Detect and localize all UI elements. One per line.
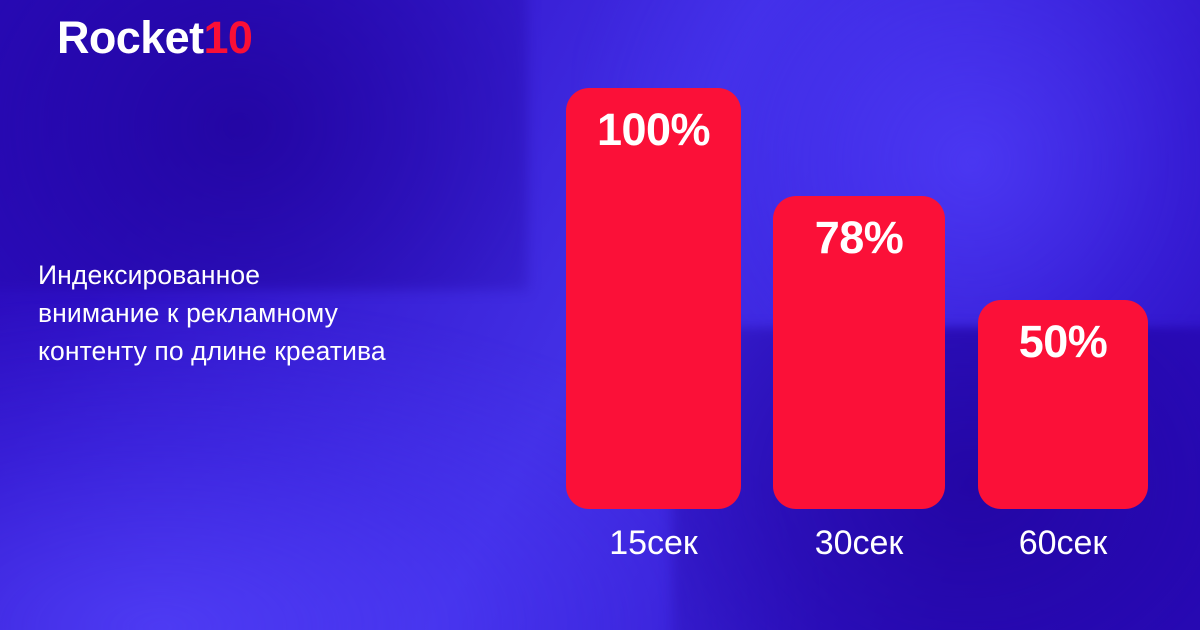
- bar-rect: 78%: [773, 196, 945, 509]
- bar-category-label: 15сек: [552, 525, 755, 562]
- bar-value-label: 100%: [566, 106, 741, 153]
- chart-caption-line-2: внимание к рекламному: [38, 294, 543, 332]
- bar-column: 50% 60сек: [978, 60, 1148, 570]
- bar-chart: 100% 15сек 78% 30сек 50% 60сек: [560, 60, 1160, 570]
- brand-logo-number: 10: [203, 12, 252, 63]
- chart-caption-line-3: контенту по длине креатива: [38, 332, 543, 370]
- bar-value-label: 78%: [773, 214, 945, 261]
- brand-logo-word: Rocket: [57, 12, 203, 63]
- chart-caption-line-1: Индексированное: [38, 256, 543, 294]
- chart-caption: Индексированное внимание к рекламному ко…: [38, 256, 543, 370]
- bar-rect: 50%: [978, 300, 1148, 509]
- bar-column: 100% 15сек: [566, 60, 741, 570]
- bar-rect: 100%: [566, 88, 741, 509]
- bar-column: 78% 30сек: [773, 60, 945, 570]
- promo-graphic: Rocket10 Индексированное внимание к рекл…: [0, 0, 1200, 630]
- bar-value-label: 50%: [978, 318, 1148, 365]
- bar-category-label: 60сек: [964, 525, 1162, 562]
- brand-logo: Rocket10: [57, 15, 252, 60]
- bar-category-label: 30сек: [759, 525, 959, 562]
